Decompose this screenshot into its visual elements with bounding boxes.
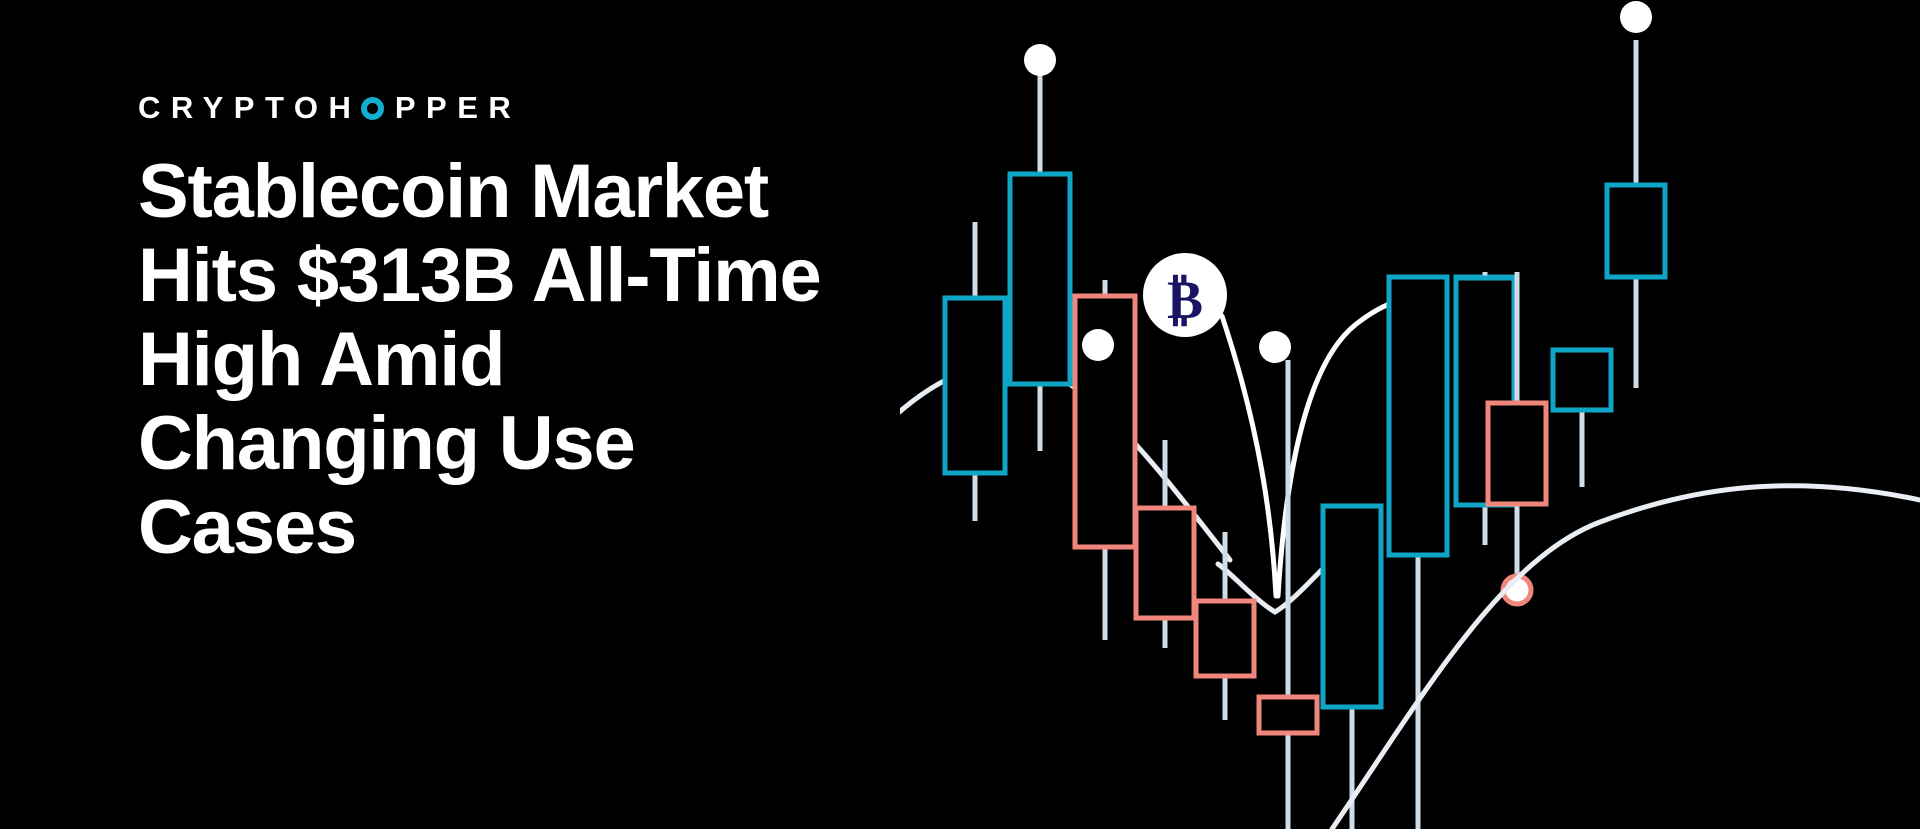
logo-accent-o-icon bbox=[361, 97, 384, 120]
hero-text-block: CRYPTOHPPER Stablecoin Market Hits $313B… bbox=[138, 92, 998, 570]
page-title: Stablecoin Market Hits $313B All-Time Hi… bbox=[138, 150, 998, 570]
candle-1-body bbox=[945, 298, 1005, 473]
candle-5-body bbox=[1196, 601, 1254, 676]
headline-line-4: Changing Use bbox=[138, 402, 998, 486]
candle-1 bbox=[945, 222, 1005, 521]
candle-2 bbox=[1010, 72, 1070, 451]
marker-top-right bbox=[1620, 1, 1652, 33]
headline-line-1: Stablecoin Market bbox=[138, 150, 998, 234]
candle-8-body bbox=[1389, 277, 1447, 555]
candle-6 bbox=[1259, 360, 1317, 829]
candle-6-body bbox=[1259, 697, 1317, 733]
marker-center bbox=[1259, 331, 1291, 363]
candle-4-body bbox=[1136, 508, 1194, 618]
candle-far-right bbox=[1607, 40, 1665, 330]
logo-text-last: PPER bbox=[395, 90, 521, 125]
candle-7 bbox=[1323, 506, 1381, 829]
candle-r3 bbox=[1553, 350, 1611, 487]
headline-line-3: High Amid bbox=[138, 318, 998, 402]
bitcoin-symbol: ₿ bbox=[1167, 270, 1203, 330]
candlestick-chart-illustration: ₿ bbox=[900, 0, 1920, 829]
marker-mid-left bbox=[1082, 329, 1114, 361]
candle-7-body bbox=[1323, 506, 1381, 707]
candle-2-body bbox=[1010, 174, 1070, 384]
logo-text-first: CRYPTOH bbox=[138, 90, 361, 125]
candles-group bbox=[945, 72, 1517, 829]
candle-5 bbox=[1196, 532, 1254, 720]
cryptohopper-logo[interactable]: CRYPTOHPPER bbox=[138, 92, 998, 128]
candle-r3-body bbox=[1553, 350, 1611, 410]
candle-r2-body bbox=[1488, 403, 1546, 504]
candle-4 bbox=[1136, 440, 1194, 648]
headline-line-2: Hits $313B All-Time bbox=[138, 234, 998, 318]
bitcoin-badge: ₿ bbox=[1143, 253, 1227, 337]
candle-8 bbox=[1389, 277, 1447, 829]
candle-far-right-body bbox=[1607, 185, 1665, 277]
hero-banner: CRYPTOHPPER Stablecoin Market Hits $313B… bbox=[0, 0, 1920, 829]
headline-line-5: Cases bbox=[138, 486, 998, 570]
marker-top-left bbox=[1024, 44, 1056, 76]
